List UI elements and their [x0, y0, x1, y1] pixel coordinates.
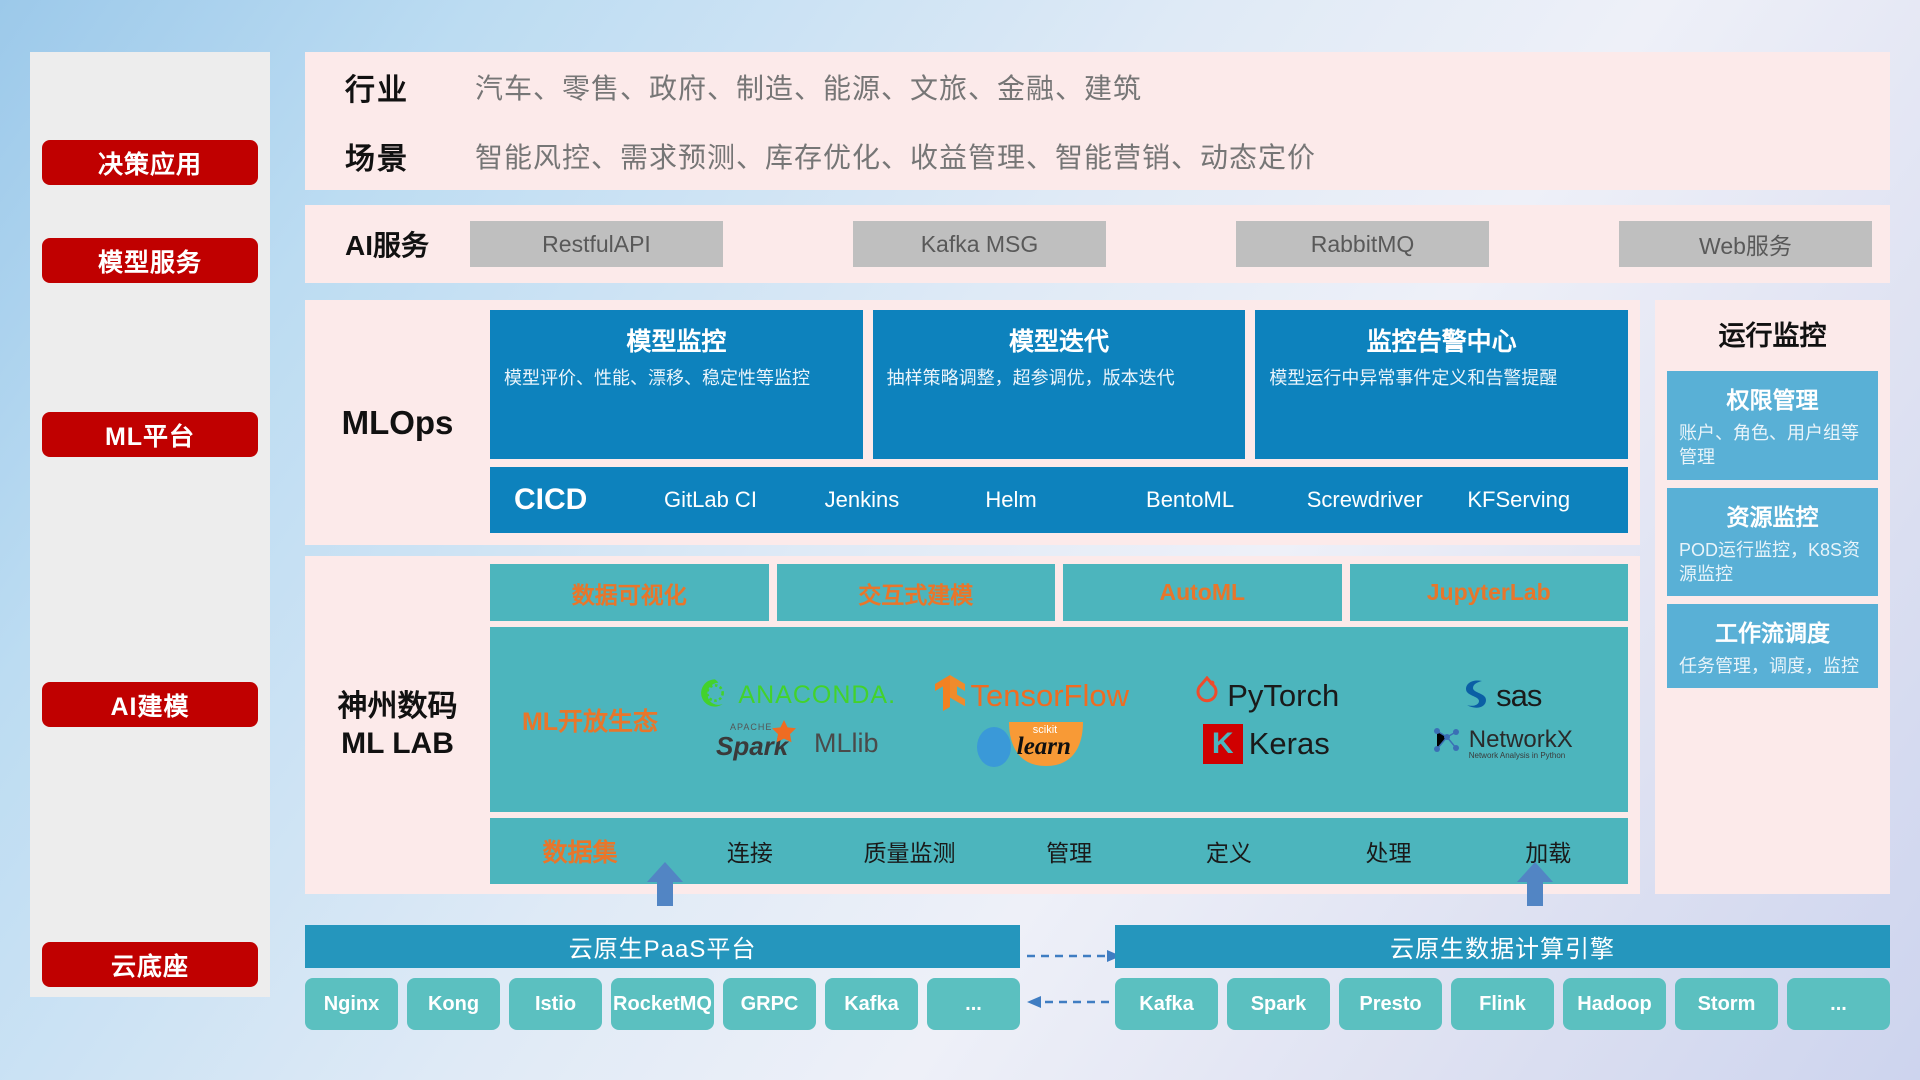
lab-tool-data-viz[interactable]: 数据可视化 [490, 564, 769, 621]
card-title: 模型迭代 [887, 322, 1232, 358]
cloud-paas-chip-list: Nginx Kong Istio RocketMQ GRPC Kafka ... [305, 978, 1020, 1030]
anaconda-icon [698, 676, 732, 715]
logo-tensorflow: TensorFlow [935, 675, 1130, 716]
cicd-label: CICD [514, 483, 664, 517]
logo-anaconda: ANACONDA. [698, 676, 896, 715]
scene-value: 智能风控、需求预测、库存优化、收益管理、智能营销、动态定价 [475, 136, 1316, 176]
cicd-item-gitlab-ci[interactable]: GitLab CI [664, 485, 825, 515]
learn-text: learn [1017, 733, 1071, 761]
networkx-icon [1429, 724, 1463, 763]
ml-lab-band: 神州数码 ML LAB 数据可视化 交互式建模 AutoML JupyterLa… [305, 556, 1640, 894]
chip-more[interactable]: ... [927, 978, 1020, 1030]
scikit-learn-icon: scikit learn [973, 720, 1091, 768]
cloud-paas-group: 云原生PaaS平台 Nginx Kong Istio RocketMQ GRPC… [305, 925, 1020, 1030]
keras-wordmark: Keras [1249, 726, 1330, 762]
scene-key: 场景 [345, 134, 475, 178]
ai-service-restfulapi[interactable]: RestfulAPI [470, 221, 723, 267]
ai-service-list: RestfulAPI Kafka MSG RabbitMQ Web服务 [470, 221, 1890, 267]
keras-icon: K [1203, 724, 1243, 764]
dataset-item-connect[interactable]: 连接 [670, 834, 830, 868]
cicd-row: CICD GitLab CI Jenkins Helm BentoML Scre… [490, 467, 1628, 533]
ml-ecosystem-box: ML开放生态 ANACONDA. [490, 627, 1628, 812]
monitor-card-permission[interactable]: 权限管理 账户、角色、用户组等管理 [1667, 371, 1878, 480]
chip-kafka[interactable]: Kafka [825, 978, 918, 1030]
rail-item-cloud-base[interactable]: 云底座 [42, 942, 258, 987]
cloud-paas-title: 云原生PaaS平台 [305, 925, 1020, 968]
runtime-monitor-band: 运行监控 权限管理 账户、角色、用户组等管理 资源监控 POD运行监控，K8S资… [1655, 300, 1890, 894]
industry-row: 行业 汽车、零售、政府、制造、能源、文旅、金融、建筑 [305, 52, 1890, 121]
chip-presto[interactable]: Presto [1339, 978, 1442, 1030]
ai-service-rabbitmq[interactable]: RabbitMQ [1236, 221, 1489, 267]
cloud-engine-title: 云原生数据计算引擎 [1115, 925, 1890, 968]
cloud-engine-chip-list: Kafka Spark Presto Flink Hadoop Storm ..… [1115, 978, 1890, 1030]
ml-ecosystem-logos: ANACONDA. TensorFlow [680, 672, 1618, 768]
chip-grpc[interactable]: GRPC [723, 978, 816, 1030]
mlops-card-model-monitor[interactable]: 模型监控 模型评价、性能、漂移、稳定性等监控 [490, 310, 863, 459]
tensorflow-wordmark: TensorFlow [971, 678, 1130, 714]
cicd-item-kfserving[interactable]: KFServing [1467, 485, 1628, 515]
card-desc: POD运行监控，K8S资源监控 [1679, 538, 1866, 587]
pytorch-wordmark: PyTorch [1227, 678, 1339, 714]
ai-service-label: AI服务 [345, 224, 470, 264]
card-desc: 模型评价、性能、漂移、稳定性等监控 [504, 366, 849, 390]
rail-label: 云底座 [111, 947, 189, 983]
ai-service-band: AI服务 RestfulAPI Kafka MSG RabbitMQ Web服务 [305, 205, 1890, 283]
dataset-item-process[interactable]: 处理 [1309, 834, 1469, 868]
industry-scene-band: 行业 汽车、零售、政府、制造、能源、文旅、金融、建筑 场景 智能风控、需求预测、… [305, 52, 1890, 190]
lab-tool-automl[interactable]: AutoML [1063, 564, 1342, 621]
dataset-item-quality[interactable]: 质量监测 [830, 834, 990, 868]
monitor-card-workflow[interactable]: 工作流调度 任务管理，调度，监控 [1667, 604, 1878, 688]
card-title: 权限管理 [1679, 381, 1866, 415]
rail-item-ml-platform[interactable]: ML平台 [42, 412, 258, 457]
logo-keras: K Keras [1203, 724, 1330, 764]
mlops-band: MLOps 模型监控 模型评价、性能、漂移、稳定性等监控 模型迭代 抽样策略调整… [305, 300, 1640, 545]
card-desc: 账户、角色、用户组等管理 [1679, 421, 1866, 470]
mlops-card-model-iteration[interactable]: 模型迭代 抽样策略调整，超参调优，版本迭代 [873, 310, 1246, 459]
ml-ecosystem-title: ML开放生态 [500, 702, 680, 738]
dataset-item-manage[interactable]: 管理 [989, 834, 1149, 868]
keras-mark-letter: K [1212, 727, 1234, 760]
chip-spark[interactable]: Spark [1227, 978, 1330, 1030]
sas-icon [1460, 677, 1490, 714]
card-title: 工作流调度 [1679, 614, 1866, 648]
mlops-label: MLOps [305, 300, 490, 545]
cloud-engine-group: 云原生数据计算引擎 Kafka Spark Presto Flink Hadoo… [1115, 925, 1890, 1030]
rail-label: AI建模 [110, 687, 189, 723]
chip-more[interactable]: ... [1787, 978, 1890, 1030]
dataset-item-define[interactable]: 定义 [1149, 834, 1309, 868]
industry-key: 行业 [345, 65, 475, 109]
lab-tool-jupyterlab[interactable]: JupyterLab [1350, 564, 1629, 621]
runtime-monitor-title: 运行监控 [1655, 300, 1890, 363]
chip-storm[interactable]: Storm [1675, 978, 1778, 1030]
cicd-item-screwdriver[interactable]: Screwdriver [1307, 485, 1468, 515]
ml-lab-label: 神州数码 ML LAB [305, 556, 490, 894]
tensorflow-icon [935, 675, 965, 716]
logo-sas: sas [1460, 677, 1541, 714]
layer-rail [30, 52, 270, 997]
card-title: 监控告警中心 [1269, 322, 1614, 358]
rail-item-ai-modeling[interactable]: AI建模 [42, 682, 258, 727]
logo-pytorch: PyTorch [1193, 676, 1339, 715]
cicd-item-bentoml[interactable]: BentoML [1146, 485, 1307, 515]
industry-value: 汽车、零售、政府、制造、能源、文旅、金融、建筑 [475, 67, 1142, 107]
ml-lab-label-line2: ML LAB [341, 725, 454, 763]
chip-kong[interactable]: Kong [407, 978, 500, 1030]
mlops-card-list: 模型监控 模型评价、性能、漂移、稳定性等监控 模型迭代 抽样策略调整，超参调优，… [490, 310, 1628, 459]
card-desc: 任务管理，调度，监控 [1679, 654, 1866, 678]
ai-service-web[interactable]: Web服务 [1619, 221, 1872, 267]
networkx-wordmark: NetworkX [1469, 728, 1573, 752]
diagram-canvas: 决策应用 模型服务 ML平台 AI建模 云底座 行业 汽车、零售、政府、制造、能… [0, 0, 1920, 1080]
logo-networkx: NetworkX Network Analysis in Python [1429, 724, 1573, 763]
card-title: 模型监控 [504, 322, 849, 358]
lab-tools-row: 数据可视化 交互式建模 AutoML JupyterLab [490, 564, 1628, 621]
sas-wordmark: sas [1496, 678, 1541, 714]
chip-kafka[interactable]: Kafka [1115, 978, 1218, 1030]
scene-row: 场景 智能风控、需求预测、库存优化、收益管理、智能营销、动态定价 [305, 121, 1890, 190]
mlops-card-alert-center[interactable]: 监控告警中心 模型运行中异常事件定义和告警提醒 [1255, 310, 1628, 459]
dataset-label: 数据集 [490, 833, 670, 869]
card-desc: 抽样策略调整，超参调优，版本迭代 [887, 366, 1232, 390]
logo-spark-mllib: APACHE Spark MLlib [716, 724, 879, 764]
bidirectional-link-icon [1025, 940, 1125, 1020]
card-title: 资源监控 [1679, 498, 1866, 532]
arrow-up-paas-icon [645, 862, 685, 906]
rail-item-decision[interactable]: 决策应用 [42, 140, 258, 185]
chip-flink[interactable]: Flink [1451, 978, 1554, 1030]
chip-istio[interactable]: Istio [509, 978, 602, 1030]
chip-hadoop[interactable]: Hadoop [1563, 978, 1666, 1030]
ml-lab-label-line1: 神州数码 [338, 688, 458, 726]
networkx-tagline: Network Analysis in Python [1469, 752, 1573, 760]
monitor-card-resource[interactable]: 资源监控 POD运行监控，K8S资源监控 [1667, 488, 1878, 597]
mllib-wordmark: MLlib [814, 728, 879, 759]
chip-rocketmq[interactable]: RocketMQ [611, 978, 714, 1030]
rail-label: ML平台 [105, 417, 195, 453]
card-desc: 模型运行中异常事件定义和告警提醒 [1269, 366, 1614, 390]
logo-scikit-learn: scikit learn [973, 720, 1091, 768]
dataset-item-list: 连接 质量监测 管理 定义 处理 加载 [670, 834, 1628, 868]
lab-tool-interactive[interactable]: 交互式建模 [777, 564, 1056, 621]
cicd-item-jenkins[interactable]: Jenkins [825, 485, 986, 515]
rail-item-model-serve[interactable]: 模型服务 [42, 238, 258, 283]
cicd-item-helm[interactable]: Helm [985, 485, 1146, 515]
rail-label: 决策应用 [98, 145, 202, 181]
pytorch-icon [1193, 676, 1221, 715]
arrow-up-engine-icon [1515, 862, 1555, 906]
rail-label: 模型服务 [98, 243, 202, 279]
cicd-item-list: GitLab CI Jenkins Helm BentoML Screwdriv… [664, 485, 1628, 515]
spark-icon: APACHE Spark [716, 724, 808, 764]
chip-nginx[interactable]: Nginx [305, 978, 398, 1030]
ai-service-kafka-msg[interactable]: Kafka MSG [853, 221, 1106, 267]
anaconda-wordmark: ANACONDA. [738, 681, 896, 710]
